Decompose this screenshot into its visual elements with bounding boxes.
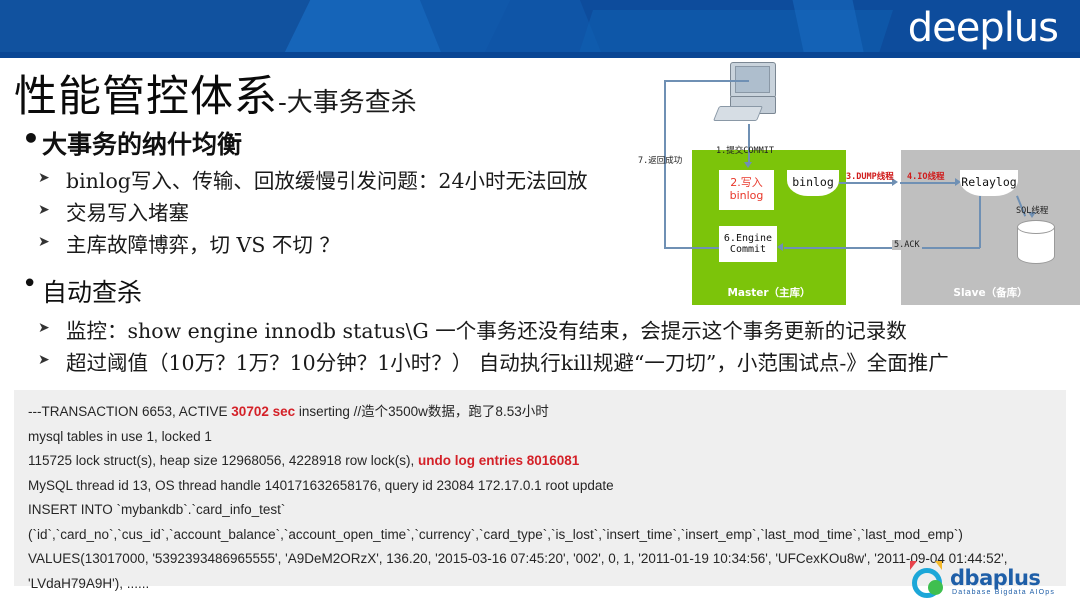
arrow-ack-head bbox=[777, 243, 783, 251]
slave-label: Slave（备库） bbox=[901, 285, 1080, 300]
dbaplus-triangle-yellow-icon bbox=[935, 561, 942, 570]
log-line: 115725 lock struct(s), heap size 1296805… bbox=[28, 449, 1052, 474]
log-text: ---TRANSACTION 6653, ACTIVE bbox=[28, 404, 231, 419]
label-return-success: 7.返回成功 bbox=[638, 154, 682, 166]
replication-diagram: Master（主库） Slave（备库） 2.写入binlog 6.Engine… bbox=[624, 60, 1080, 310]
label-commit: 1.提交COMMIT bbox=[716, 144, 774, 156]
log-text: INSERT INTO `mybankdb`.`card_info_test` bbox=[28, 502, 285, 517]
arrow-commit-head bbox=[744, 162, 752, 168]
log-text: MySQL thread id 13, OS thread handle 140… bbox=[28, 478, 614, 493]
header-shape-6 bbox=[0, 52, 1080, 58]
log-text: 115725 lock struct(s), heap size 1296805… bbox=[28, 453, 418, 468]
keyboard-shape bbox=[713, 106, 763, 121]
label-io-thread: 4.IO线程 bbox=[907, 170, 944, 182]
dbaplus-logo: dbaplus Database Bigdata AIOps bbox=[888, 562, 1068, 602]
bullet-2-1: 监控：show engine innodb status\G 一个事务还没有结束… bbox=[20, 317, 1070, 346]
slide: deeplus 性能管控体系-大事务查杀 大事务的纳什均衡 binlog写入、传… bbox=[0, 0, 1080, 608]
log-line: (`id`,`card_no`,`cus_id`,`account_balanc… bbox=[28, 523, 1052, 548]
log-text: VALUES(13017000, '5392393486965555', 'A9… bbox=[28, 551, 1008, 566]
dbaplus-triangle-red-icon bbox=[910, 561, 917, 570]
log-line: MySQL thread id 13, OS thread handle 140… bbox=[28, 474, 1052, 499]
header-shape-5 bbox=[790, 0, 869, 58]
client-computer-icon bbox=[716, 62, 780, 124]
log-text: mysql tables in use 1, locked 1 bbox=[28, 429, 212, 444]
bullet-2-2: 超过阈值（10万？1万？10分钟？1小时？） 自动执行kill规避“一刀切”，小… bbox=[20, 349, 1070, 378]
dbaplus-dot-icon bbox=[928, 580, 943, 595]
label-dump-thread: 3.DUMP线程 bbox=[846, 170, 894, 182]
arrow-return-bottom bbox=[664, 247, 722, 249]
arrow-io-line bbox=[900, 182, 958, 184]
dbaplus-name: dbaplus bbox=[950, 566, 1040, 590]
arrow-ack-vline bbox=[979, 196, 981, 248]
node-relaylog: Relaylog bbox=[960, 170, 1018, 196]
label-sql-thread: SQL线程 bbox=[1016, 204, 1048, 216]
arrow-return-hline bbox=[664, 80, 749, 82]
node-binlog: binlog bbox=[787, 170, 839, 196]
log-line: mysql tables in use 1, locked 1 bbox=[28, 425, 1052, 450]
transaction-log-block: ---TRANSACTION 6653, ACTIVE 30702 sec in… bbox=[14, 390, 1066, 586]
log-highlight: 30702 sec bbox=[231, 404, 295, 419]
page-title-main: 性能管控体系 bbox=[14, 62, 278, 124]
dbaplus-tagline: Database Bigdata AIOps bbox=[952, 589, 1055, 596]
log-text: (`id`,`card_no`,`cus_id`,`account_balanc… bbox=[28, 527, 963, 542]
header-banner: deeplus bbox=[0, 0, 1080, 58]
page-title-sub: -大事务查杀 bbox=[278, 82, 417, 119]
header-shape-3 bbox=[412, 0, 608, 58]
deeplus-logo: deeplus bbox=[908, 5, 1058, 51]
log-highlight: undo log entries 8016081 bbox=[418, 453, 579, 468]
log-text: 'LVdaH79A9H'), ...... bbox=[28, 576, 149, 591]
header-shape-1 bbox=[0, 0, 330, 58]
log-text: inserting //造个3500w数据，跑了8.53小时 bbox=[295, 404, 549, 419]
arrow-ack-hline bbox=[784, 247, 980, 249]
log-line: ---TRANSACTION 6653, ACTIVE 30702 sec in… bbox=[28, 400, 1052, 425]
label-ack: 5.ACK bbox=[892, 240, 922, 250]
node-engine-commit: 6.EngineCommit bbox=[719, 226, 777, 262]
arrow-dump-line bbox=[839, 182, 894, 184]
log-line: INSERT INTO `mybankdb`.`card_info_test` bbox=[28, 498, 1052, 523]
node-write-binlog: 2.写入binlog bbox=[719, 170, 774, 210]
database-cylinder-icon bbox=[1017, 220, 1055, 264]
page-title: 性能管控体系-大事务查杀 bbox=[14, 62, 417, 124]
master-label: Master（主库） bbox=[692, 285, 846, 300]
